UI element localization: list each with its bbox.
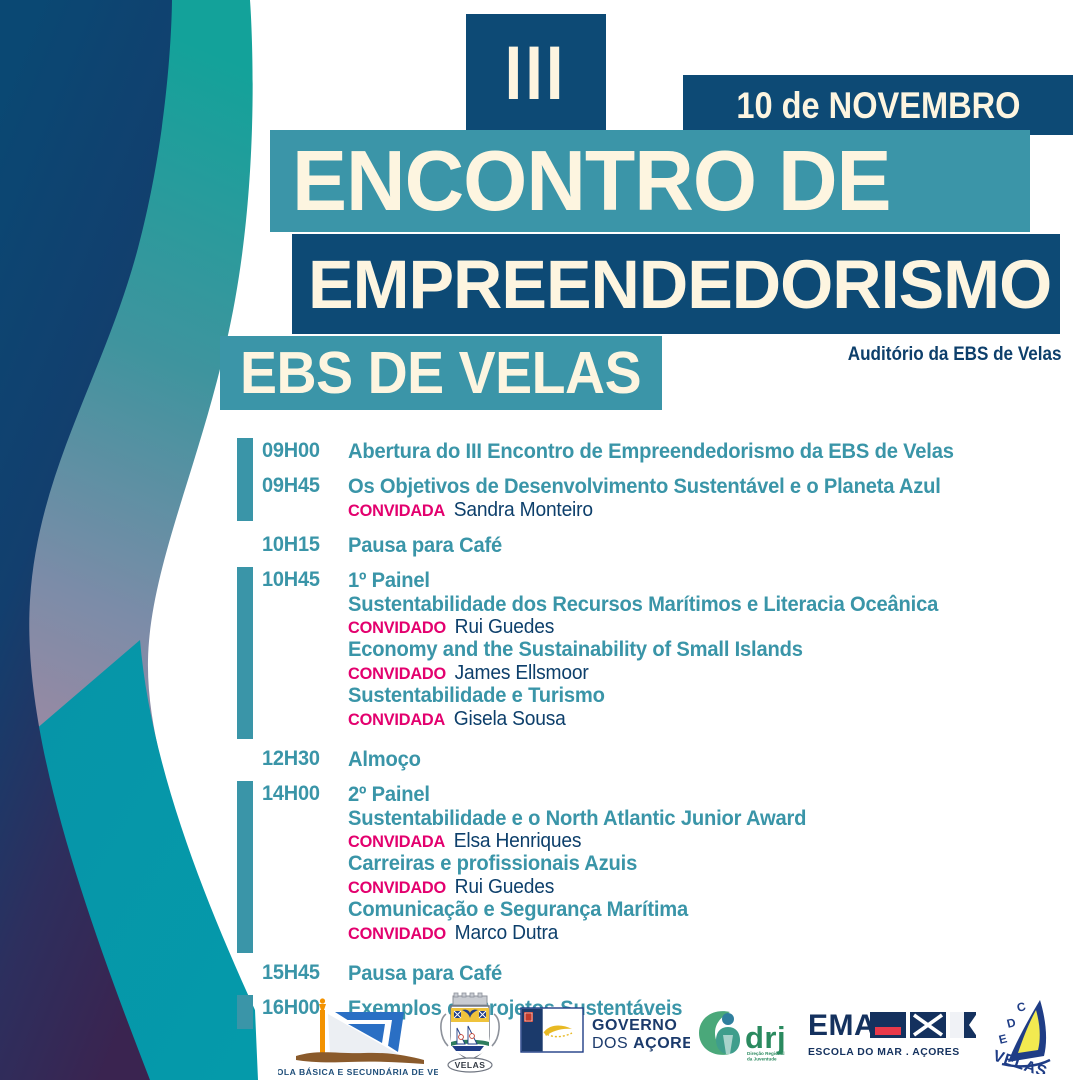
schedule-time: 14H00	[262, 783, 344, 805]
panel-label: 1º Painel	[348, 569, 938, 593]
date-label: 10 de NOVEMBRO	[736, 87, 1020, 124]
panel-label: 2º Painel	[348, 783, 806, 807]
schedule-row: 10H451º PainelSustentabilidade dos Recur…	[262, 569, 963, 730]
schedule-title: Economy and the Sustainability of Small …	[348, 638, 938, 662]
guest-line: CONVIDADOJames Ellsmoor	[348, 663, 938, 684]
cd-velas-logo: C D E VELAS	[978, 994, 1074, 1074]
edition-badge: III	[466, 14, 606, 134]
schedule-time: 09H00	[262, 440, 344, 462]
title-line2: EMPREENDEDORISMO	[308, 250, 1051, 319]
guest-name: Marco Dutra	[455, 922, 559, 944]
schedule-title: Almoço	[348, 748, 421, 772]
schedule-title: Pausa para Café	[348, 534, 502, 558]
title-line1: ENCONTRO DE	[292, 139, 891, 224]
ebs-velas-logo: ESCOLA BÁSICA E SECUNDÁRIA DE VELAS	[278, 990, 438, 1078]
schedule-time: 09H45	[262, 475, 344, 497]
cd-velas-letter-c: C	[1015, 999, 1027, 1015]
schedule-title: Pausa para Café	[348, 962, 502, 986]
guest-label: CONVIDADA	[348, 832, 445, 851]
guest-line: CONVIDADAGisela Sousa	[348, 709, 938, 730]
schedule-title: Abertura do III Encontro de Empreendedor…	[348, 440, 954, 464]
schedule-title: Os Objetivos de Desenvolvimento Sustentá…	[348, 475, 941, 499]
guest-name: Rui Guedes	[455, 616, 554, 638]
guest-label: CONVIDADO	[348, 664, 446, 683]
schedule-time: 12H30	[262, 748, 344, 770]
guest-name: Elsa Henriques	[454, 830, 582, 852]
sponsor-logo-bar: ESCOLA BÁSICA E SECUNDÁRIA DE VELAS	[0, 988, 1080, 1080]
title-line2-band: EMPREENDEDORISMO	[292, 234, 1060, 334]
guest-label: CONVIDADA	[348, 710, 445, 729]
guest-line: CONVIDADAElsa Henriques	[348, 831, 806, 852]
velas-coat-of-arms-caption: VELAS	[455, 1060, 486, 1070]
cd-velas-letter-e: E	[997, 1031, 1009, 1047]
schedule-entries: Almoço	[348, 748, 424, 772]
schedule-accent-bar	[237, 438, 253, 521]
schedule-row: 14H002º PainelSustentabilidade e o North…	[262, 783, 825, 944]
schedule-list: 09H00Abertura do III Encontro de Empreen…	[0, 432, 1080, 977]
drj-sub-line2: da Juventude	[747, 1057, 777, 1062]
ebs-velas-logo-caption: ESCOLA BÁSICA E SECUNDÁRIA DE VELAS	[278, 1067, 438, 1077]
date-badge: 10 de NOVEMBRO	[683, 75, 1073, 135]
guest-label: CONVIDADO	[348, 878, 446, 897]
schedule-title: Sustentabilidade dos Recursos Marítimos …	[348, 593, 938, 617]
schedule-time: 15H45	[262, 962, 344, 984]
ema-logo-sub: ESCOLA DO MAR . AÇORES	[808, 1047, 960, 1058]
schedule-row: 09H45Os Objetivos de Desenvolvimento Sus…	[262, 475, 965, 521]
ema-logo-caption: EMA	[808, 1009, 876, 1042]
drj-sub-line1: Direção Regional	[747, 1051, 785, 1056]
schedule-time: 10H15	[262, 534, 344, 556]
schedule-title: Carreiras e profissionais Azuis	[348, 852, 806, 876]
schedule-time: 10H45	[262, 569, 344, 591]
governo-acores-logo: GOVERNO DOS AÇORES	[520, 1002, 690, 1064]
cd-velas-letter-d: D	[1005, 1015, 1017, 1031]
schedule-title: Comunicação e Segurança Marítima	[348, 898, 806, 922]
schedule-title: Sustentabilidade e o North Atlantic Juni…	[348, 807, 806, 831]
schedule-accent-bar	[237, 781, 253, 953]
poster-header: III 10 de NOVEMBRO ENCONTRO DE EMPREENDE…	[0, 0, 1080, 420]
title-line3-band: EBS DE VELAS	[220, 336, 662, 410]
schedule-row: 15H45Pausa para Café	[262, 962, 508, 986]
schedule-entries: 1º PainelSustentabilidade dos Recursos M…	[348, 569, 963, 730]
guest-line: CONVIDADOMarco Dutra	[348, 923, 806, 944]
title-line1-band: ENCONTRO DE	[270, 130, 1030, 232]
schedule-row: 10H15Pausa para Café	[262, 534, 508, 558]
schedule-entries: Os Objetivos de Desenvolvimento Sustentá…	[348, 475, 965, 521]
edition-label: III	[505, 36, 567, 112]
guest-label: CONVIDADO	[348, 618, 446, 637]
guest-line: CONVIDADORui Guedes	[348, 877, 806, 898]
guest-label: CONVIDADA	[348, 501, 445, 520]
title-line3: EBS DE VELAS	[240, 344, 641, 403]
governo-acores-line2: DOS AÇORES	[592, 1035, 690, 1052]
guest-line: CONVIDADASandra Monteiro	[348, 500, 941, 521]
drj-logo-caption: drj	[745, 1020, 786, 1055]
venue-label: Auditório da EBS de Velas	[848, 345, 1062, 364]
guest-line: CONVIDADORui Guedes	[348, 617, 938, 638]
schedule-entries: 2º PainelSustentabilidade e o North Atla…	[348, 783, 825, 944]
schedule-accent-bar	[237, 567, 253, 739]
guest-name: Gisela Sousa	[454, 708, 566, 730]
schedule-entries: Pausa para Café	[348, 962, 508, 986]
ema-logo: EMA ESCOLA DO MAR . AÇORES	[806, 1002, 976, 1062]
guest-name: Sandra Monteiro	[454, 499, 593, 521]
guest-name: James Ellsmoor	[455, 662, 589, 684]
governo-acores-line1: GOVERNO	[592, 1017, 677, 1034]
drj-logo: drj Direção Regional da Juventude	[697, 1002, 812, 1064]
schedule-entries: Abertura do III Encontro de Empreendedor…	[348, 440, 979, 464]
guest-name: Rui Guedes	[455, 876, 554, 898]
schedule-row: 09H00Abertura do III Encontro de Empreen…	[262, 440, 979, 464]
velas-coat-of-arms-logo: VELAS	[424, 992, 516, 1076]
schedule-row: 12H30Almoço	[262, 748, 424, 772]
guest-label: CONVIDADO	[348, 924, 446, 943]
schedule-entries: Pausa para Café	[348, 534, 508, 558]
schedule-title: Sustentabilidade e Turismo	[348, 684, 938, 708]
